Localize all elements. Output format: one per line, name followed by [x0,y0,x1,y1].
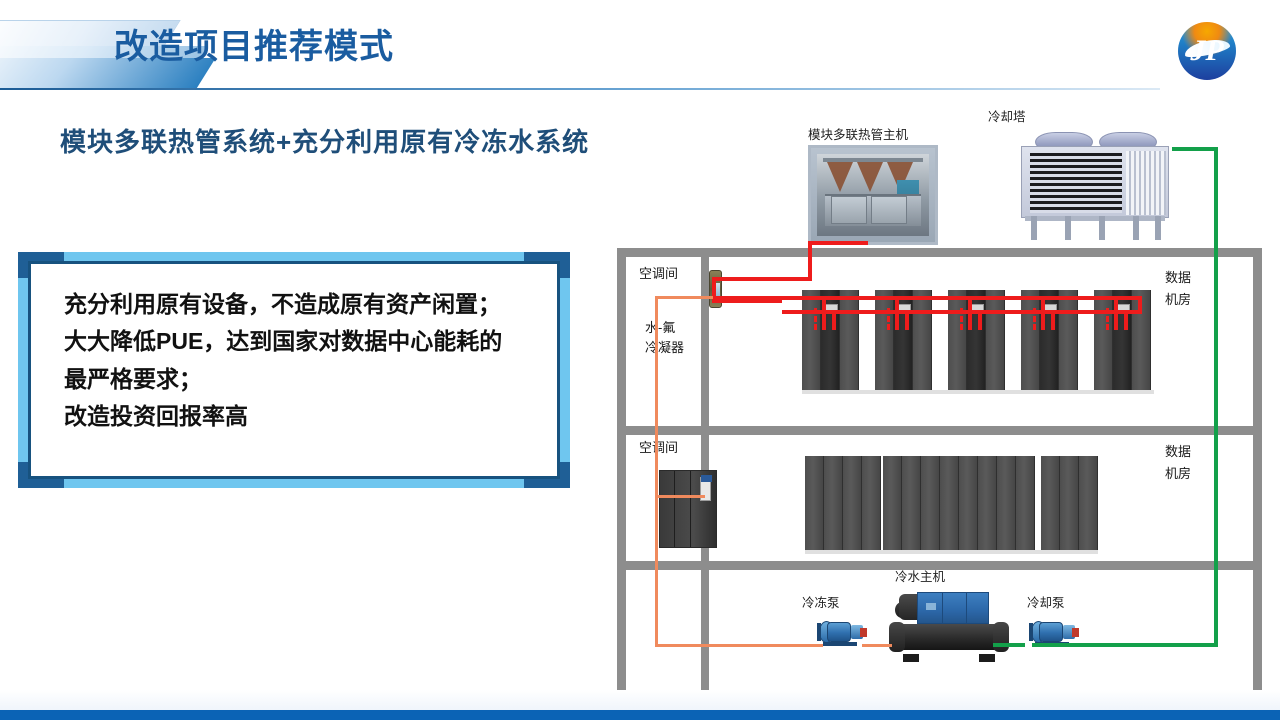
callout-line-3: 最严格要求； [64,361,544,398]
pump-flange-left [1029,623,1033,641]
rack-group-mid-2 [883,456,1035,550]
crac-seam-2 [690,471,691,547]
wall-left [617,248,626,708]
rack-unit [986,290,1005,390]
rack-group-top-5 [1094,290,1151,390]
label-cooling-tower: 冷却塔 [988,110,1026,126]
rack-unit [883,456,902,550]
chiller-head-right [993,622,1009,652]
label-chilled-pump: 冷冻泵 [802,596,840,612]
rack-group-top-1 [802,290,859,390]
rack-unit [1094,290,1113,390]
label-heat-pipe-chiller: 模块多联热管主机 [808,128,908,144]
pipe-cooling-from-tower [1172,147,1218,151]
rack-group-top-4 [1021,290,1078,390]
rack-unit [1041,456,1060,550]
heat-pipe-chiller-unit [808,145,938,245]
chiller-body-seam-2 [966,593,967,623]
chilled-water-pump [817,620,863,646]
rack-unit [824,456,843,550]
pipe-refrigerant-return-3 [960,308,963,330]
callout-text: 充分利用原有设备，不造成原有资产闲置； 大大降低PUE，达到国家对数据中心能耗的… [64,286,544,435]
pipe-refrigerant-return-1 [814,308,817,330]
partition-floor-3 [701,570,709,699]
chiller-body-seam-1 [942,593,943,623]
rack-unit [948,290,967,390]
tower-leg-5 [1155,216,1161,240]
floor-divider-2 [617,561,1262,570]
pipe-refrigerant-header-upper [712,296,1142,300]
rack-unit [997,456,1016,550]
pipe-refrigerant-drop-3a [968,296,972,330]
pump-base [823,642,857,646]
partition-floor-1 [701,257,709,426]
rack-unit [1079,456,1098,550]
chiller-evaporator-shell [893,624,1005,650]
tower-leg-3 [1099,216,1105,240]
chiller-door-1 [831,196,867,224]
pipe-refrigerant-return-5 [1106,308,1109,330]
pipe-chilled-riser [655,296,658,646]
tower-rail [1025,216,1165,221]
pump-body [827,622,851,642]
chiller-head-left [889,622,905,652]
label-data-room-top-1: 数据 [1165,270,1191,287]
label-data-room-mid-2: 机房 [1165,466,1191,483]
tower-louvers [1030,153,1122,213]
label-ac-room-mid: 空调间 [639,440,678,457]
footer-bar [0,710,1280,720]
tower-fins [1126,151,1166,215]
pipe-cooling-riser [1214,147,1218,645]
chiller-foot-right [979,654,995,662]
rack-unit [978,456,997,550]
rack-unit [875,290,894,390]
callout-line-1: 充分利用原有设备，不造成原有资产闲置； [64,286,544,323]
company-logo: JP [1178,22,1236,80]
rack-unit [802,290,821,390]
tower-leg-2 [1065,216,1071,240]
label-data-room-mid-1: 数据 [1165,444,1191,461]
rack-group-mid-3 [1041,456,1098,550]
rack-unit [902,456,921,550]
slide: 改造项目推荐模式 JP 模块多联热管系统+充分利用原有冷冻水系统 充分利用原有设… [0,0,1280,720]
chiller-nameplate [926,603,936,610]
slide-header: 改造项目推荐模式 [0,0,1280,96]
pipe-refrigerant-drop-2a [895,296,899,330]
rack-unit [1059,290,1078,390]
rack-unit [805,456,824,550]
tower-body [1021,146,1169,218]
crac-seam-1 [674,471,675,547]
rack-unit [959,456,978,550]
logo-letter: JP [1178,22,1236,80]
rack-unit [913,290,932,390]
label-cooling-pump: 冷却泵 [1027,596,1065,612]
rack-unit [1021,290,1040,390]
pipe-refrigerant-drop [808,241,812,281]
rack-unit [940,456,959,550]
chiller-foot-left [903,654,919,662]
rack-unit [1016,456,1035,550]
pipe-chilled-pump-to-chiller [862,644,892,647]
footer-gradient [0,690,1280,712]
pipe-refrigerant-drop-5b [1124,310,1128,330]
label-ac-room-top: 空调间 [639,266,678,283]
rack-unit [840,290,859,390]
pipe-cooling-bottom-run [1032,643,1218,647]
pipe-refrigerant-drop-2b [905,310,909,330]
tower-legs [1025,216,1165,240]
pipe-chilled-to-crac [655,495,705,498]
pipe-refrigerant-drop-4a [1041,296,1045,330]
pipe-refrigerant-return-4 [1033,308,1036,330]
chiller-door-2 [871,196,907,224]
building-frame: 空调间 水-氟 冷凝器 数据 机房 空调间 数据 机房 [617,248,1262,708]
rack-group-top-3 [948,290,1005,390]
rack-unit [843,456,862,550]
rack-unit [1060,456,1079,550]
pipe-refrigerant-header-riser [1138,296,1142,314]
chiller-blue-body [917,592,989,624]
pipe-refrigerant-drop-1b [832,310,836,330]
chiller-frame [817,154,929,236]
crac-unit [659,470,717,548]
wall-right [1253,248,1262,708]
benefits-callout-box: 充分利用原有设备，不造成原有资产闲置； 大大降低PUE，达到国家对数据中心能耗的… [18,252,570,488]
pipe-refrigerant-drop-5a [1114,296,1118,330]
water-cooled-chiller-unit [889,590,1009,662]
pump-flange-right [1072,628,1079,637]
callout-line-2: 大大降低PUE，达到国家对数据中心能耗的 [64,323,544,360]
pump-body [1039,622,1063,642]
label-condenser-line-2: 冷凝器 [645,340,684,357]
pipe-refrigerant-to-condenser [712,277,812,281]
coil-triangle-1 [827,162,853,192]
tower-leg-4 [1133,216,1139,240]
tower-leg-1 [1031,216,1037,240]
page-title: 改造项目推荐模式 [114,30,394,64]
label-water-chiller: 冷水主机 [895,570,945,586]
label-data-room-top-2: 机房 [1165,292,1191,309]
rack-unit [921,456,940,550]
crac-indicator [701,475,712,482]
rack-row-top-shadow [802,390,1154,394]
header-divider-rule [0,88,1160,90]
pipe-refrigerant-return-2 [887,308,890,330]
section-subtitle: 模块多联热管系统+充分利用原有冷冻水系统 [60,122,589,159]
pipe-refrigerant-from-unit [808,241,868,245]
system-schematic-diagram: 模块多联热管主机 冷却塔 [600,100,1280,620]
pump-flange-left [817,623,821,641]
pipe-refrigerant-drop-4b [1051,310,1055,330]
chiller-base [825,194,921,226]
wall-top [617,248,1262,257]
pipe-refrigerant-drop-1a [822,296,826,330]
pipe-chilled-bottom-run [655,644,823,647]
label-condenser-line-1: 水-氟 [645,320,675,337]
rack-group-top-2 [875,290,932,390]
rack-unit [862,456,881,550]
pipe-cooling-chiller-to-pump [993,643,1025,647]
floor-divider-1 [617,426,1262,435]
coil-triangle-2 [857,162,883,192]
pump-flange-right [860,628,867,637]
cooling-tower-unit [1015,132,1175,242]
pipe-refrigerant-drop-3b [978,310,982,330]
rack-row-mid-shadow [805,550,1098,554]
chiller-top-rail [823,158,923,162]
rack-group-mid-1 [805,456,881,550]
callout-line-4: 改造投资回报率高 [64,398,544,435]
pipe-chilled-top-branch [655,296,713,299]
